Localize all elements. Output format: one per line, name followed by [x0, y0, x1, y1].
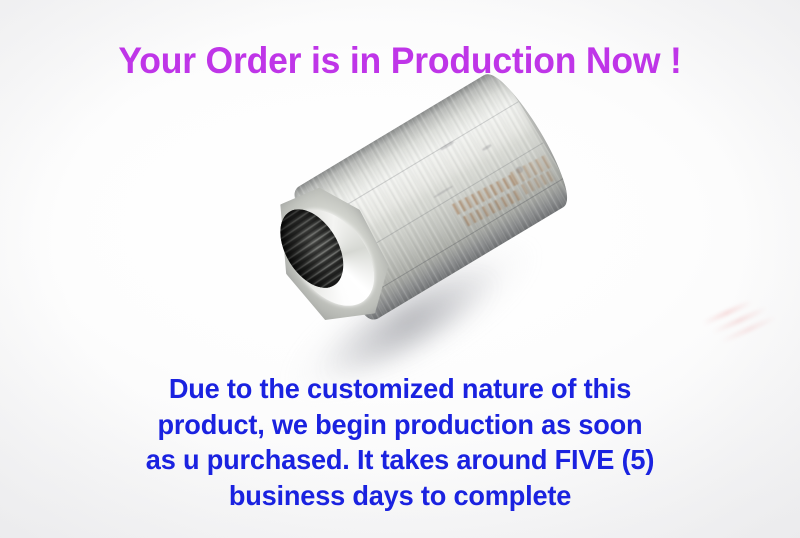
production-notice-text: Due to the customized nature of this pro…	[61, 371, 740, 513]
notice-line: Due to the customized nature of this	[61, 371, 740, 407]
product-photo	[256, 112, 580, 374]
notice-line: product, we begin production as soon	[61, 407, 740, 443]
notice-line: business days to complete	[61, 478, 740, 514]
notice-line: as u purchased. It takes around FIVE (5)	[61, 442, 740, 478]
page-title: Your Order is in Production Now !	[16, 42, 784, 79]
notice-banner: Your Order is in Production Now !	[0, 0, 800, 538]
